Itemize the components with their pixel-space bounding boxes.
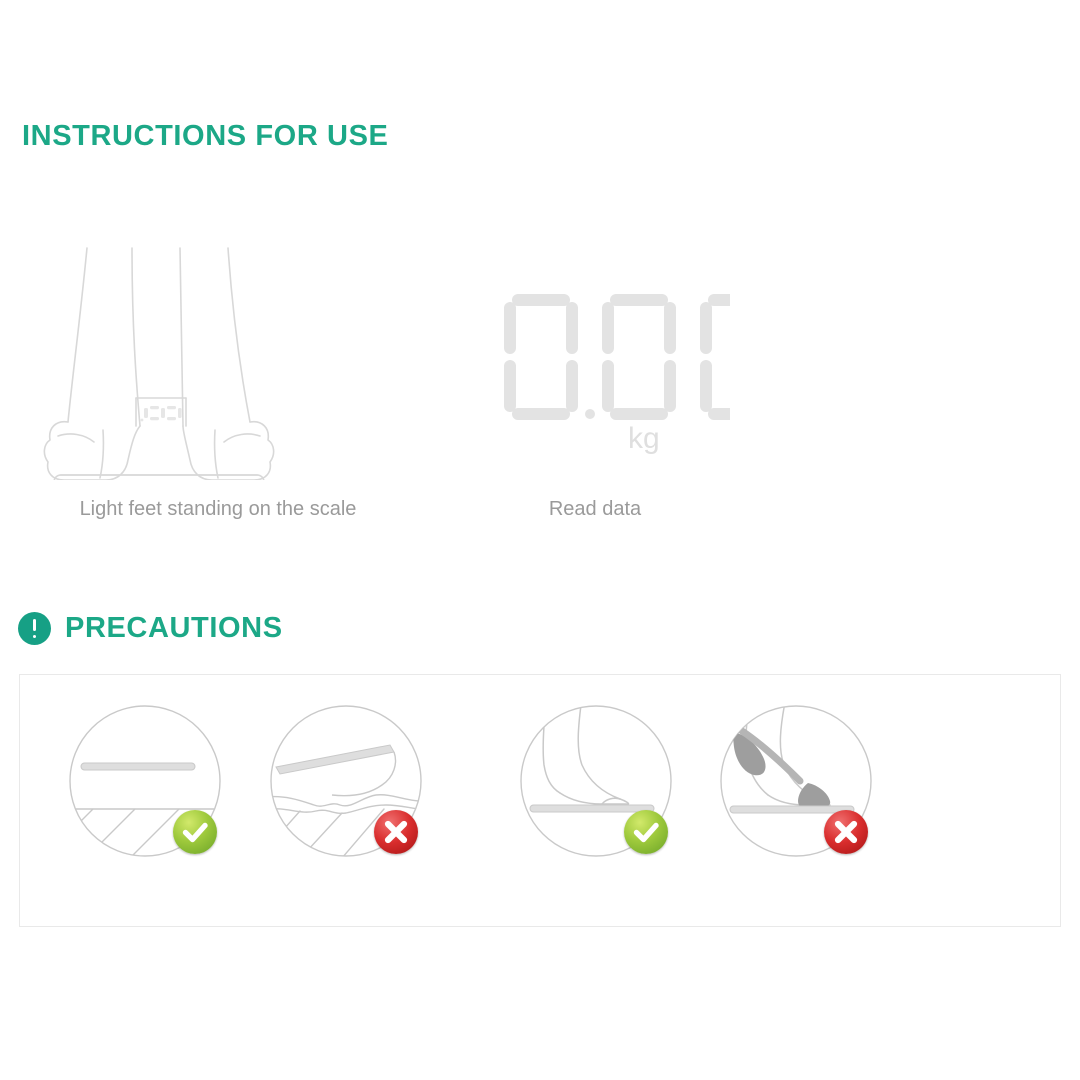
badge-check-icon <box>173 810 217 854</box>
exclamation-circle-icon <box>18 612 51 645</box>
precaution-item-bare-foot <box>520 705 680 865</box>
precaution-item-soft-uneven-surface <box>270 705 430 865</box>
scale-slab <box>81 763 195 770</box>
precaution-item-sock-foot <box>720 705 880 865</box>
lcd-unit-label: kg <box>628 422 660 456</box>
precautions-header: PRECAUTIONS <box>18 612 283 645</box>
page-title-instructions: INSTRUCTIONS FOR USE <box>22 120 388 153</box>
instruction-steps: Light feet standing on the scale <box>0 230 1080 540</box>
badge-cross-icon <box>824 810 868 854</box>
precautions-panel <box>19 674 1061 927</box>
precaution-item-hard-flat-surface <box>69 705 229 865</box>
lcd-display-illustration: kg <box>430 230 760 490</box>
precautions-title: PRECAUTIONS <box>65 612 283 645</box>
instruction-step-read: kg Read data <box>430 230 760 540</box>
step-caption-stand: Light feet standing on the scale <box>48 498 388 521</box>
legs-on-scale-illustration <box>40 230 380 490</box>
badge-check-icon <box>624 810 668 854</box>
badge-cross-icon <box>374 810 418 854</box>
seven-segment-digits <box>504 294 730 420</box>
scale-slab-tilted <box>276 745 396 796</box>
step-caption-read: Read data <box>430 498 760 521</box>
scale-readout <box>141 406 182 421</box>
instruction-step-stand: Light feet standing on the scale <box>40 230 380 540</box>
